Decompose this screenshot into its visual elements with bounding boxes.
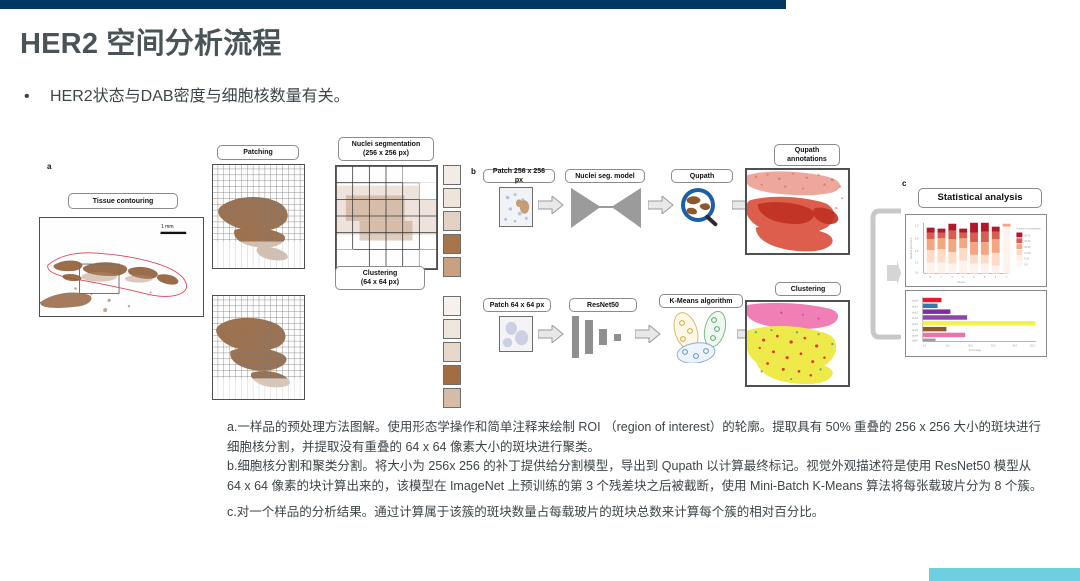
- svg-text:20.0: 20.0: [968, 345, 973, 347]
- svg-text:clust2: clust2: [912, 311, 919, 314]
- label-clustering-grid-line1: Clustering: [363, 269, 398, 278]
- panel-letter-c: c: [902, 179, 906, 188]
- svg-text:clust1: clust1: [912, 306, 919, 309]
- page-title: HER2 空间分析流程: [20, 20, 282, 62]
- scale-bar-label: 1 mm: [161, 224, 174, 230]
- svg-text:9-16: 9-16: [1024, 259, 1029, 261]
- top-accent-bar: [0, 0, 786, 9]
- label-clustering-grid: Clustering (64 x 64 px): [335, 266, 425, 290]
- svg-text:50.0: 50.0: [1030, 345, 1035, 347]
- patch-strip-bottom: [443, 296, 461, 408]
- image-clustering-result: [745, 300, 850, 387]
- label-tissue-contouring: Tissue contouring: [68, 193, 178, 209]
- image-patching-lower: [212, 295, 305, 400]
- svg-text:clust4: clust4: [912, 323, 919, 326]
- label-clustering-grid-line2: (64 x 64 px): [361, 278, 399, 287]
- chart-stacked-bar: 0123 4567 Cluster 1.00.80.50.20.0 Relati…: [905, 214, 1047, 287]
- bottom-accent-bar: [929, 568, 1080, 581]
- svg-text:40.0: 40.0: [1012, 345, 1017, 347]
- caption-paragraph-b: b.细胞核分割和聚类分割。将大小为 256x 256 的补丁提供给分割模型，导出…: [227, 457, 1047, 496]
- svg-text:clust5: clust5: [912, 329, 919, 332]
- svg-text:clust6: clust6: [912, 335, 919, 338]
- svg-text:clust3: clust3: [912, 317, 919, 320]
- label-statistical-analysis: Statistical analysis: [918, 188, 1042, 208]
- svg-text:Cluster: Cluster: [957, 281, 965, 284]
- label-patch-64: Patch 64 x 64 px: [483, 298, 551, 312]
- image-patch-64: [499, 316, 533, 352]
- svg-text:Number of nuclei/patch: Number of nuclei/patch: [1016, 228, 1041, 231]
- icon-unet-model: [569, 186, 643, 235]
- caption-paragraph-c: c.对一个样品的分析结果。通过计算属于该簇的斑块数量占每载玻片的斑块总数来计算每…: [227, 503, 1047, 523]
- panel-letter-b: b: [471, 167, 476, 176]
- label-nuclei-segmentation: Nuclei segmentation (256 x 256 px): [338, 137, 434, 161]
- label-nuclei-segmentation-line1: Nuclei segmentation: [352, 140, 420, 149]
- patch-strip-top: [443, 165, 461, 277]
- arrow-right-1: [538, 196, 564, 219]
- bullet-list-item: • HER2状态与DAB密度与细胞核数量有关。: [20, 86, 920, 108]
- arrow-right-5: [635, 325, 661, 348]
- icon-resnet-blocks: [570, 316, 632, 363]
- svg-text:0.2: 0.2: [915, 262, 919, 265]
- figure-caption: a.一样品的预处理方法图解。使用形态学操作和简单注释来绘制 ROI （regio…: [227, 418, 1047, 523]
- svg-text:30.0: 30.0: [991, 345, 996, 347]
- svg-text:clust0: clust0: [912, 300, 919, 303]
- image-qupath-annotations: [745, 168, 850, 255]
- label-nuclei-seg-model: Nuclei seg. model: [565, 169, 645, 183]
- label-kmeans-algorithm: K-Means algorithm: [659, 294, 743, 308]
- svg-text:Relative proportion: Relative proportion: [910, 237, 913, 259]
- icon-kmeans-clusters: [663, 311, 739, 368]
- label-qupath-annotations-line1: Qupath: [795, 146, 820, 155]
- label-qupath-annotations: Qupath annotations: [774, 144, 840, 166]
- image-nuclei-segmentation-grid: [335, 165, 438, 270]
- caption-paragraph-a: a.一样品的预处理方法图解。使用形态学操作和简单注释来绘制 ROI （regio…: [227, 418, 1047, 457]
- label-qupath-annotations-line2: annotations: [787, 155, 827, 164]
- svg-text:16-25: 16-25: [1024, 253, 1031, 255]
- svg-text:10.0: 10.0: [945, 345, 950, 347]
- svg-text:50-72: 50-72: [1024, 235, 1031, 237]
- svg-text:0.5: 0.5: [915, 250, 919, 253]
- label-nuclei-segmentation-line2: (256 x 256 px): [363, 149, 409, 158]
- label-resnet50: ResNet50: [569, 298, 637, 312]
- bullet-marker: •: [20, 86, 50, 108]
- label-clustering-result: Clustering: [775, 282, 841, 296]
- arrow-right-2: [648, 196, 674, 219]
- svg-text:0.8: 0.8: [915, 237, 919, 240]
- svg-text:Percentage: Percentage: [969, 349, 982, 352]
- connector-bracket: [853, 203, 901, 348]
- svg-text:25-36: 25-36: [1024, 247, 1031, 249]
- panel-letter-a: a: [47, 162, 51, 171]
- svg-text:clust7: clust7: [912, 339, 919, 342]
- qupath-logo-icon: [676, 185, 726, 236]
- label-patch-256: Patch 256 x 256 px: [483, 169, 555, 183]
- pipeline-figure: a b c Tissue contouring: [35, 133, 1035, 408]
- svg-text:36-50: 36-50: [1024, 241, 1031, 243]
- image-patch-256: [499, 187, 533, 227]
- image-patching: [212, 164, 305, 269]
- arrow-right-4: [538, 325, 564, 348]
- svg-text:1.0: 1.0: [915, 225, 919, 228]
- image-tissue-contouring: 1 mm: [39, 217, 204, 317]
- label-patching: Patching: [217, 145, 299, 160]
- label-qupath: Qupath: [671, 169, 733, 183]
- bullet-text: HER2状态与DAB密度与细胞核数量有关。: [50, 86, 350, 108]
- svg-text:0.0: 0.0: [915, 271, 919, 274]
- chart-horizontal-bar: clust0clust1clust2clust3 clust4clust5clu…: [905, 290, 1047, 357]
